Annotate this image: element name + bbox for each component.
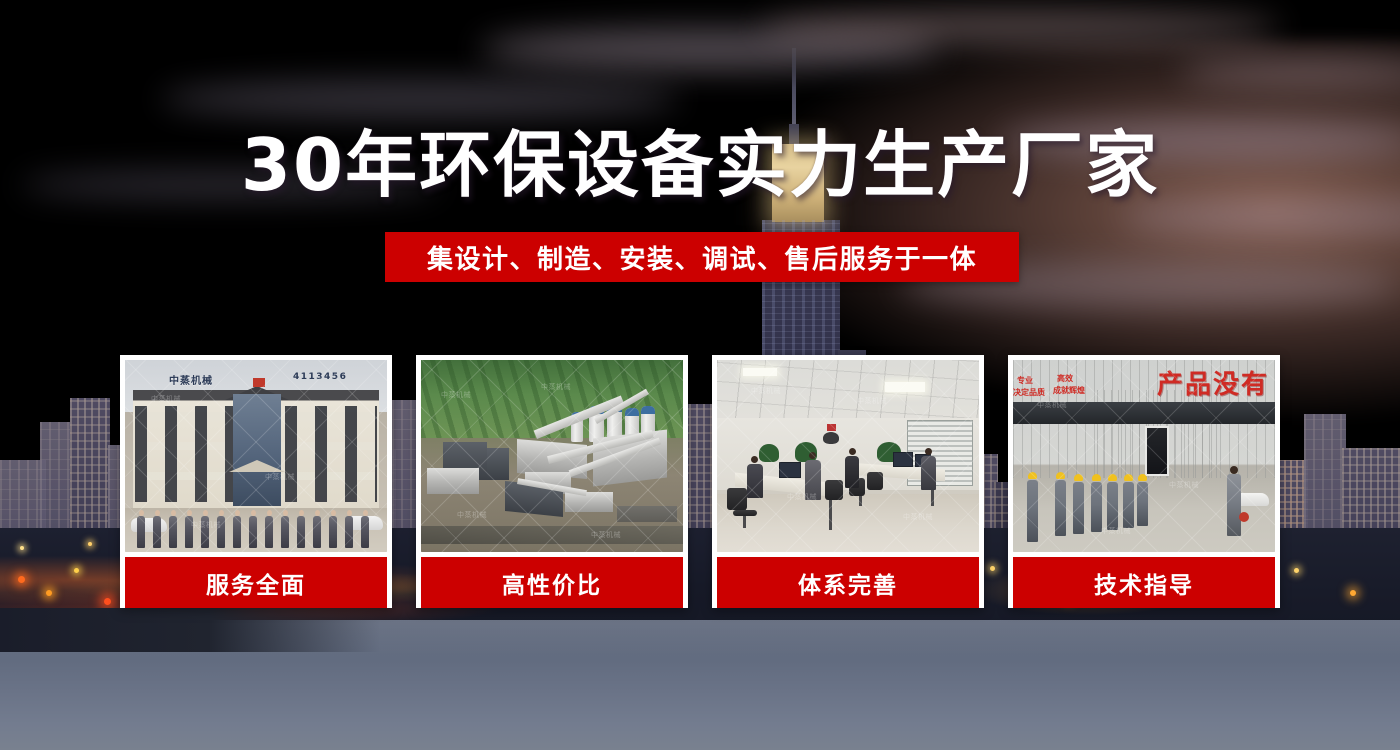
- page-title: 30年环保设备实力生产厂家: [0, 128, 1400, 204]
- building-sign-text: 中蒸机械: [169, 372, 213, 387]
- card-caption: 技术指导: [1013, 557, 1275, 608]
- cloud: [160, 80, 680, 118]
- card-caption: 高性价比: [421, 557, 683, 608]
- cloud: [760, 10, 1280, 44]
- factory-slogan-small-2: 决定品质: [1013, 388, 1045, 398]
- feature-card[interactable]: 产品没有 专业 决定品质 高效 成就辉煌: [1008, 355, 1280, 608]
- feature-card[interactable]: 中蒸机械 中蒸机械 中蒸机械 中蒸机械 体系完善: [712, 355, 984, 608]
- river-water: [0, 620, 1400, 750]
- factory-slogan-small-4: 成就辉煌: [1053, 386, 1085, 396]
- wall-decal: [817, 422, 847, 450]
- hero-banner: 30年环保设备实力生产厂家 集设计、制造、安装、调试、售后服务于一体 中蒸机械 …: [0, 0, 1400, 750]
- feature-card[interactable]: 中蒸机械 4113456 中蒸机械 中蒸机械 中蒸机械: [120, 355, 392, 608]
- factory-slogan-large: 产品没有: [1157, 364, 1269, 401]
- card-photo-office-building: 中蒸机械 4113456 中蒸机械 中蒸机械 中蒸机械: [125, 360, 387, 552]
- card-photo-workers-training: 产品没有 专业 决定品质 高效 成就辉煌: [1013, 360, 1275, 552]
- card-caption-text: 高性价比: [502, 566, 602, 600]
- factory-slogan-small-3: 高效: [1057, 374, 1073, 384]
- card-caption-text: 服务全面: [206, 566, 306, 600]
- feature-card[interactable]: 中蒸机械 中蒸机械 中蒸机械 中蒸机械 高性价比: [416, 355, 688, 608]
- card-caption: 体系完善: [717, 557, 979, 608]
- card-photo-factory-aerial: 中蒸机械 中蒸机械 中蒸机械 中蒸机械: [421, 360, 683, 552]
- subtitle-text: 集设计、制造、安装、调试、售后服务于一体: [427, 239, 977, 276]
- factory-slogan-small-1: 专业: [1017, 376, 1033, 386]
- building-phone-text: 4113456: [293, 372, 347, 382]
- subtitle-banner: 集设计、制造、安装、调试、售后服务于一体: [385, 232, 1019, 282]
- card-photo-office-interior: 中蒸机械 中蒸机械 中蒸机械 中蒸机械: [717, 360, 979, 552]
- card-caption: 服务全面: [125, 557, 387, 608]
- card-caption-text: 技术指导: [1094, 566, 1194, 600]
- card-caption-text: 体系完善: [798, 566, 898, 600]
- feature-card-list: 中蒸机械 4113456 中蒸机械 中蒸机械 中蒸机械: [120, 355, 1280, 608]
